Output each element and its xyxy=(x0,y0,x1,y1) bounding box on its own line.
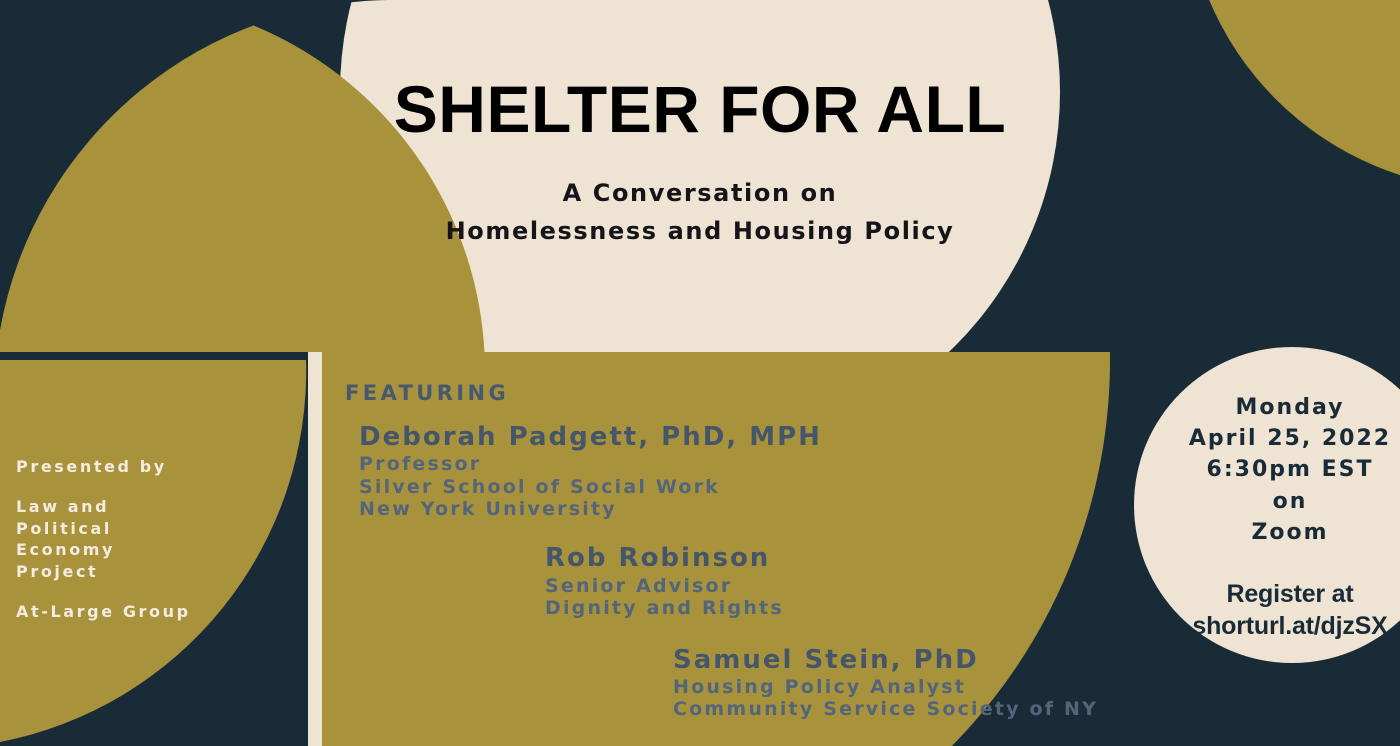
event-date-line: April 25, 2022 xyxy=(1140,423,1400,454)
speaker-entry: Rob Robinson Senior Advisor Dignity and … xyxy=(545,542,1145,619)
featuring-label: FEATURING xyxy=(345,381,1145,405)
registration-info[interactable]: Register at shorturl.at/djzSX xyxy=(1140,578,1400,642)
speaker-affiliation: Housing Policy Analyst Community Service… xyxy=(673,676,1145,721)
spacer xyxy=(16,583,286,601)
speaker-name: Rob Robinson xyxy=(545,542,1145,574)
presenter-org-line: Economy xyxy=(16,539,286,561)
event-date-line: Monday xyxy=(1140,392,1400,423)
event-date-line: on xyxy=(1140,486,1400,517)
presenter-org-line: Law and xyxy=(16,496,286,518)
event-details-circle: Monday April 25, 2022 6:30pm EST on Zoom… xyxy=(1140,392,1400,642)
speaker-affiliation-line: New York University xyxy=(359,498,1145,520)
speaker-affiliation-line: Community Service Society of NY xyxy=(673,698,1145,720)
speaker-entry: Samuel Stein, PhD Housing Policy Analyst… xyxy=(673,644,1145,721)
presented-by-label: Presented by xyxy=(16,456,286,478)
speaker-affiliation-line: Housing Policy Analyst xyxy=(673,676,1145,698)
presenter-org-line: Project xyxy=(16,561,286,583)
speaker-affiliation: Senior Advisor Dignity and Rights xyxy=(545,575,1145,620)
register-url[interactable]: shorturl.at/djzSX xyxy=(1140,610,1400,642)
presenter-group-label: At-Large Group xyxy=(16,601,286,623)
spacer xyxy=(16,478,286,496)
speaker-affiliation-line: Senior Advisor xyxy=(545,575,1145,597)
register-label: Register at xyxy=(1140,578,1400,610)
speaker-affiliation: Professor Silver School of Social Work N… xyxy=(359,453,1145,520)
speaker-affiliation-line: Dignity and Rights xyxy=(545,597,1145,619)
speaker-name: Deborah Padgett, PhD, MPH xyxy=(359,421,1145,453)
bg-cream-edge-strip xyxy=(308,352,322,746)
event-poster: SHELTER FOR ALL A Conversation on Homele… xyxy=(0,0,1400,746)
event-date-line: 6:30pm EST xyxy=(1140,454,1400,485)
speaker-entry: Deborah Padgett, PhD, MPH Professor Silv… xyxy=(359,421,1145,520)
speaker-name: Samuel Stein, PhD xyxy=(673,644,1145,676)
featuring-block: FEATURING Deborah Padgett, PhD, MPH Prof… xyxy=(345,381,1145,721)
presenter-org-line: Political xyxy=(16,518,286,540)
event-date-line: Zoom xyxy=(1140,517,1400,548)
speaker-affiliation-line: Silver School of Social Work xyxy=(359,476,1145,498)
speaker-affiliation-line: Professor xyxy=(359,453,1145,475)
presenter-block: Presented by Law and Political Economy P… xyxy=(16,456,286,623)
event-date-time: Monday April 25, 2022 6:30pm EST on Zoom xyxy=(1140,392,1400,548)
